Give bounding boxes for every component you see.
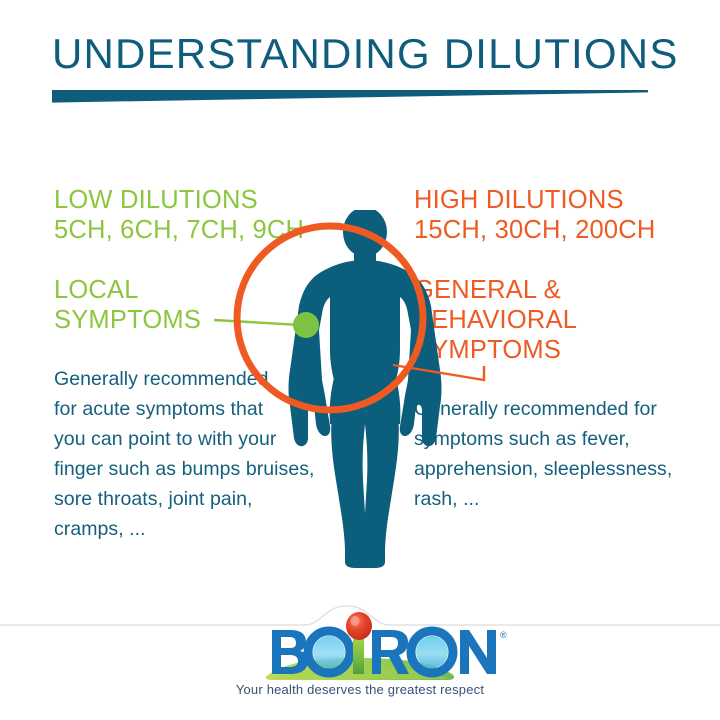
- title-divider-wedge: [52, 90, 648, 103]
- registered-trademark-mark: ®: [500, 630, 507, 640]
- local-symptoms-heading: LOCAL SYMPTOMS: [54, 275, 254, 335]
- infographic-page: UNDERSTANDING DILUTIONS LOW DILUTIONS 5C…: [0, 0, 720, 720]
- brand-tagline: Your health deserves the greatest respec…: [0, 682, 720, 697]
- human-body-silhouette: [250, 210, 480, 570]
- page-title: UNDERSTANDING DILUTIONS: [52, 28, 672, 80]
- footer-logo-block: ®: [0, 600, 720, 720]
